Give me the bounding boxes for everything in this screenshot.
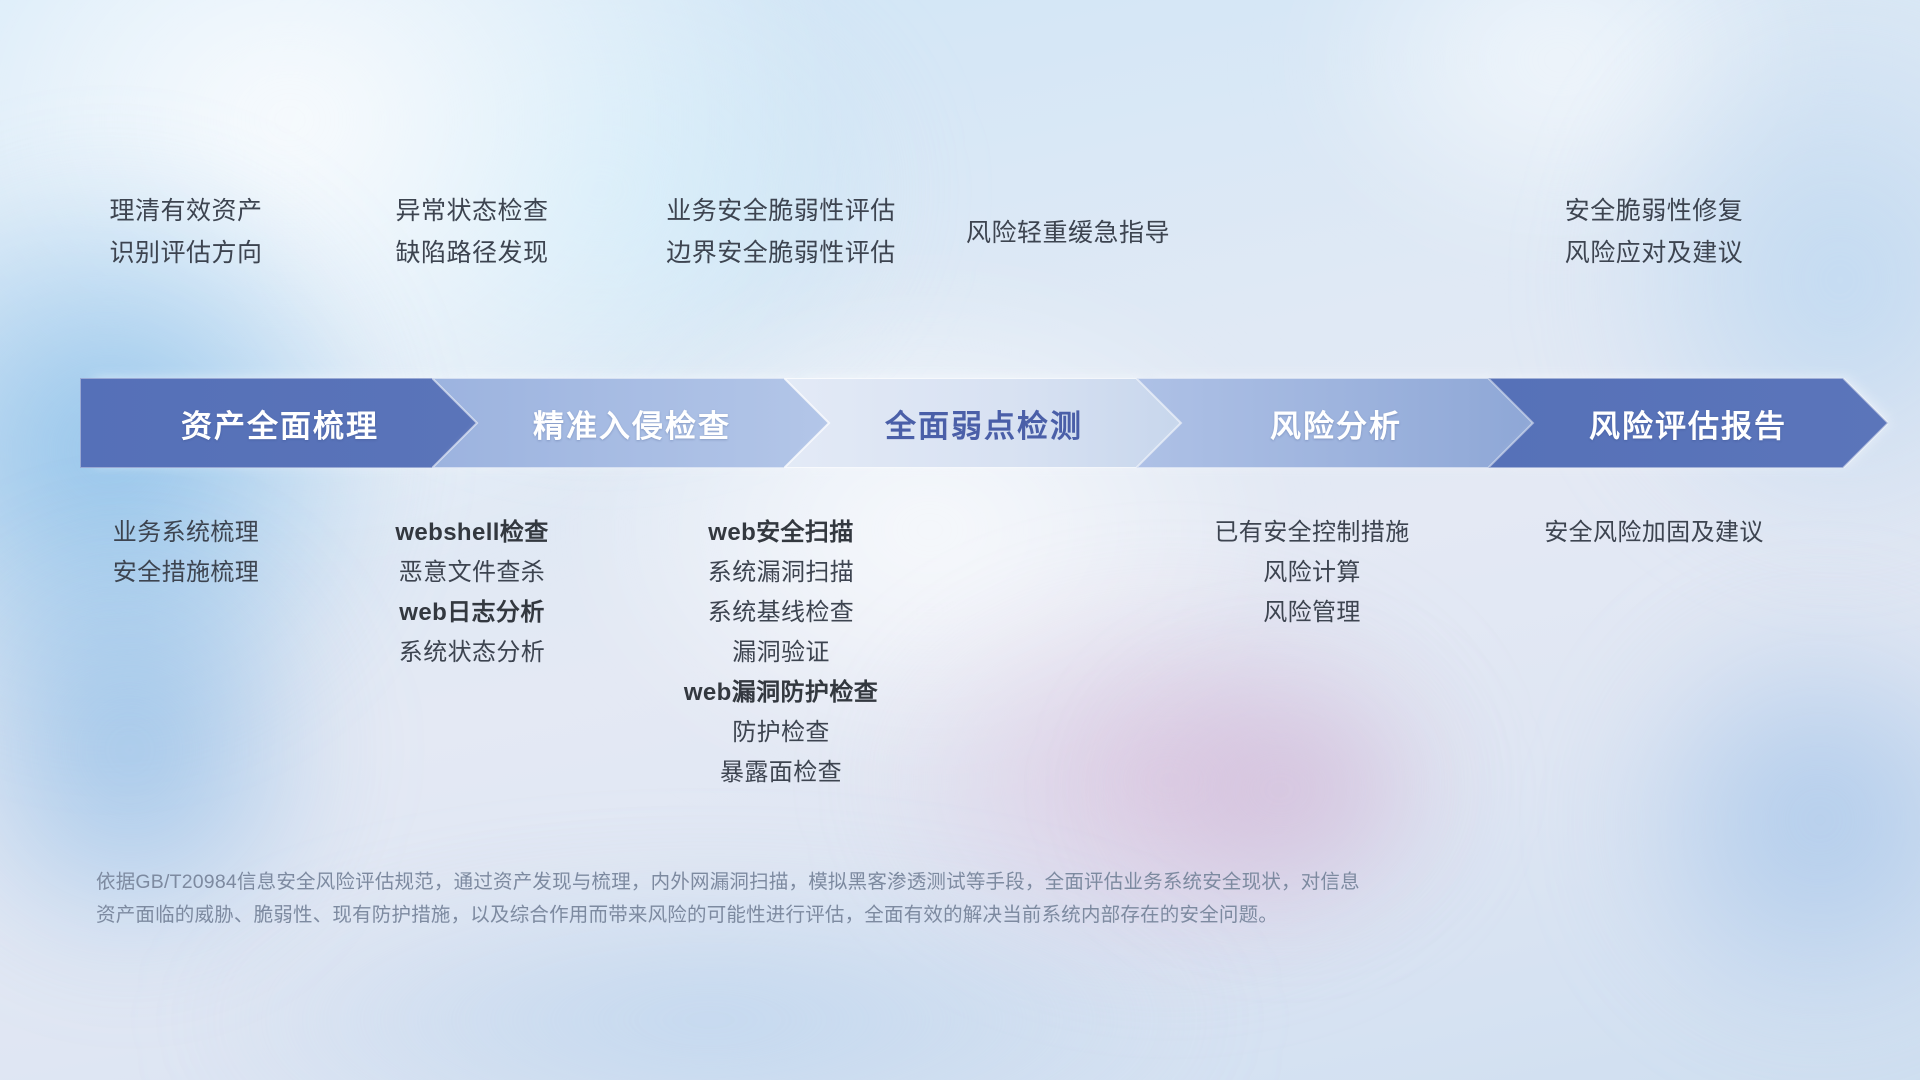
list-item: 安全措施梳理 [36,553,336,593]
chevron-stage-1-label: 资产全面梳理 [181,401,379,446]
list-item: web安全扫描 [631,513,931,553]
footer-line-2: 资产面临的威胁、脆弱性、现有防护措施，以及综合作用而带来风险的可能性进行评估，全… [96,899,1576,932]
list-item: 漏洞验证 [631,633,931,673]
stage-4-top-labels: 风险轻重缓急指导 [908,212,1228,254]
chevron-stage-5-label: 风险评估报告 [1589,401,1787,446]
stage-3-top-item: 边界安全脆弱性评估 [612,232,950,274]
list-item: 业务系统梳理 [36,513,336,553]
list-item: web日志分析 [322,593,622,633]
stage-2-bottom-list: webshell检查 恶意文件查杀 web日志分析 系统状态分析 [322,513,622,673]
stage-1-top-item: 识别评估方向 [36,232,336,274]
chevron-stage-3-label: 全面弱点检测 [885,401,1083,446]
stage-3-bottom-list: web安全扫描 系统漏洞扫描 系统基线检查 漏洞验证 web漏洞防护检查 防护检… [631,513,931,793]
stage-5-top-item: 风险应对及建议 [1504,232,1804,274]
stage-1-bottom-list: 业务系统梳理 安全措施梳理 [36,513,336,593]
list-item: 风险管理 [1162,593,1462,633]
stage-1-top-labels: 理清有效资产 识别评估方向 [36,190,336,274]
list-item: 防护检查 [631,713,931,753]
chevron-stage-4-label: 风险分析 [1270,401,1402,446]
list-item: 系统状态分析 [322,633,622,673]
stage-4-top-item: 风险轻重缓急指导 [908,212,1228,254]
stage-5-bottom-list: 安全风险加固及建议 [1504,513,1804,553]
chevron-stage-1[interactable]: 资产全面梳理 [80,378,480,468]
stage-4-bottom-list: 已有安全控制措施 风险计算 风险管理 [1162,513,1462,633]
chevron-stage-4[interactable]: 风险分析 [1136,378,1536,468]
footer-line-1: 依据GB/T20984信息安全风险评估规范，通过资产发现与梳理，内外网漏洞扫描，… [96,866,1576,899]
chevron-stage-5[interactable]: 风险评估报告 [1488,378,1888,468]
list-item: 恶意文件查杀 [322,553,622,593]
list-item: 安全风险加固及建议 [1504,513,1804,553]
stage-3-top-labels: 业务安全脆弱性评估 边界安全脆弱性评估 [612,190,950,274]
stage-2-top-item: 缺陷路径发现 [322,232,622,274]
list-item: 系统漏洞扫描 [631,553,931,593]
stage-1-top-item: 理清有效资产 [36,190,336,232]
list-item: 暴露面检查 [631,753,931,793]
list-item: webshell检查 [322,513,622,553]
footer-description: 依据GB/T20984信息安全风险评估规范，通过资产发现与梳理，内外网漏洞扫描，… [96,866,1576,932]
stage-3-top-item: 业务安全脆弱性评估 [612,190,950,232]
chevron-stage-2[interactable]: 精准入侵检查 [432,378,832,468]
process-chevron-band: 资产全面梳理 精准入侵检查 [80,378,1842,468]
list-item: 风险计算 [1162,553,1462,593]
stage-2-top-item: 异常状态检查 [322,190,622,232]
list-item: 系统基线检查 [631,593,931,633]
stage-5-top-item: 安全脆弱性修复 [1504,190,1804,232]
chevron-stage-2-label: 精准入侵检查 [533,401,731,446]
stage-2-top-labels: 异常状态检查 缺陷路径发现 [322,190,622,274]
list-item: 已有安全控制措施 [1162,513,1462,553]
list-item: web漏洞防护检查 [631,673,931,713]
chevron-stage-3[interactable]: 全面弱点检测 [784,378,1184,468]
stage-5-top-labels: 安全脆弱性修复 风险应对及建议 [1504,190,1804,274]
